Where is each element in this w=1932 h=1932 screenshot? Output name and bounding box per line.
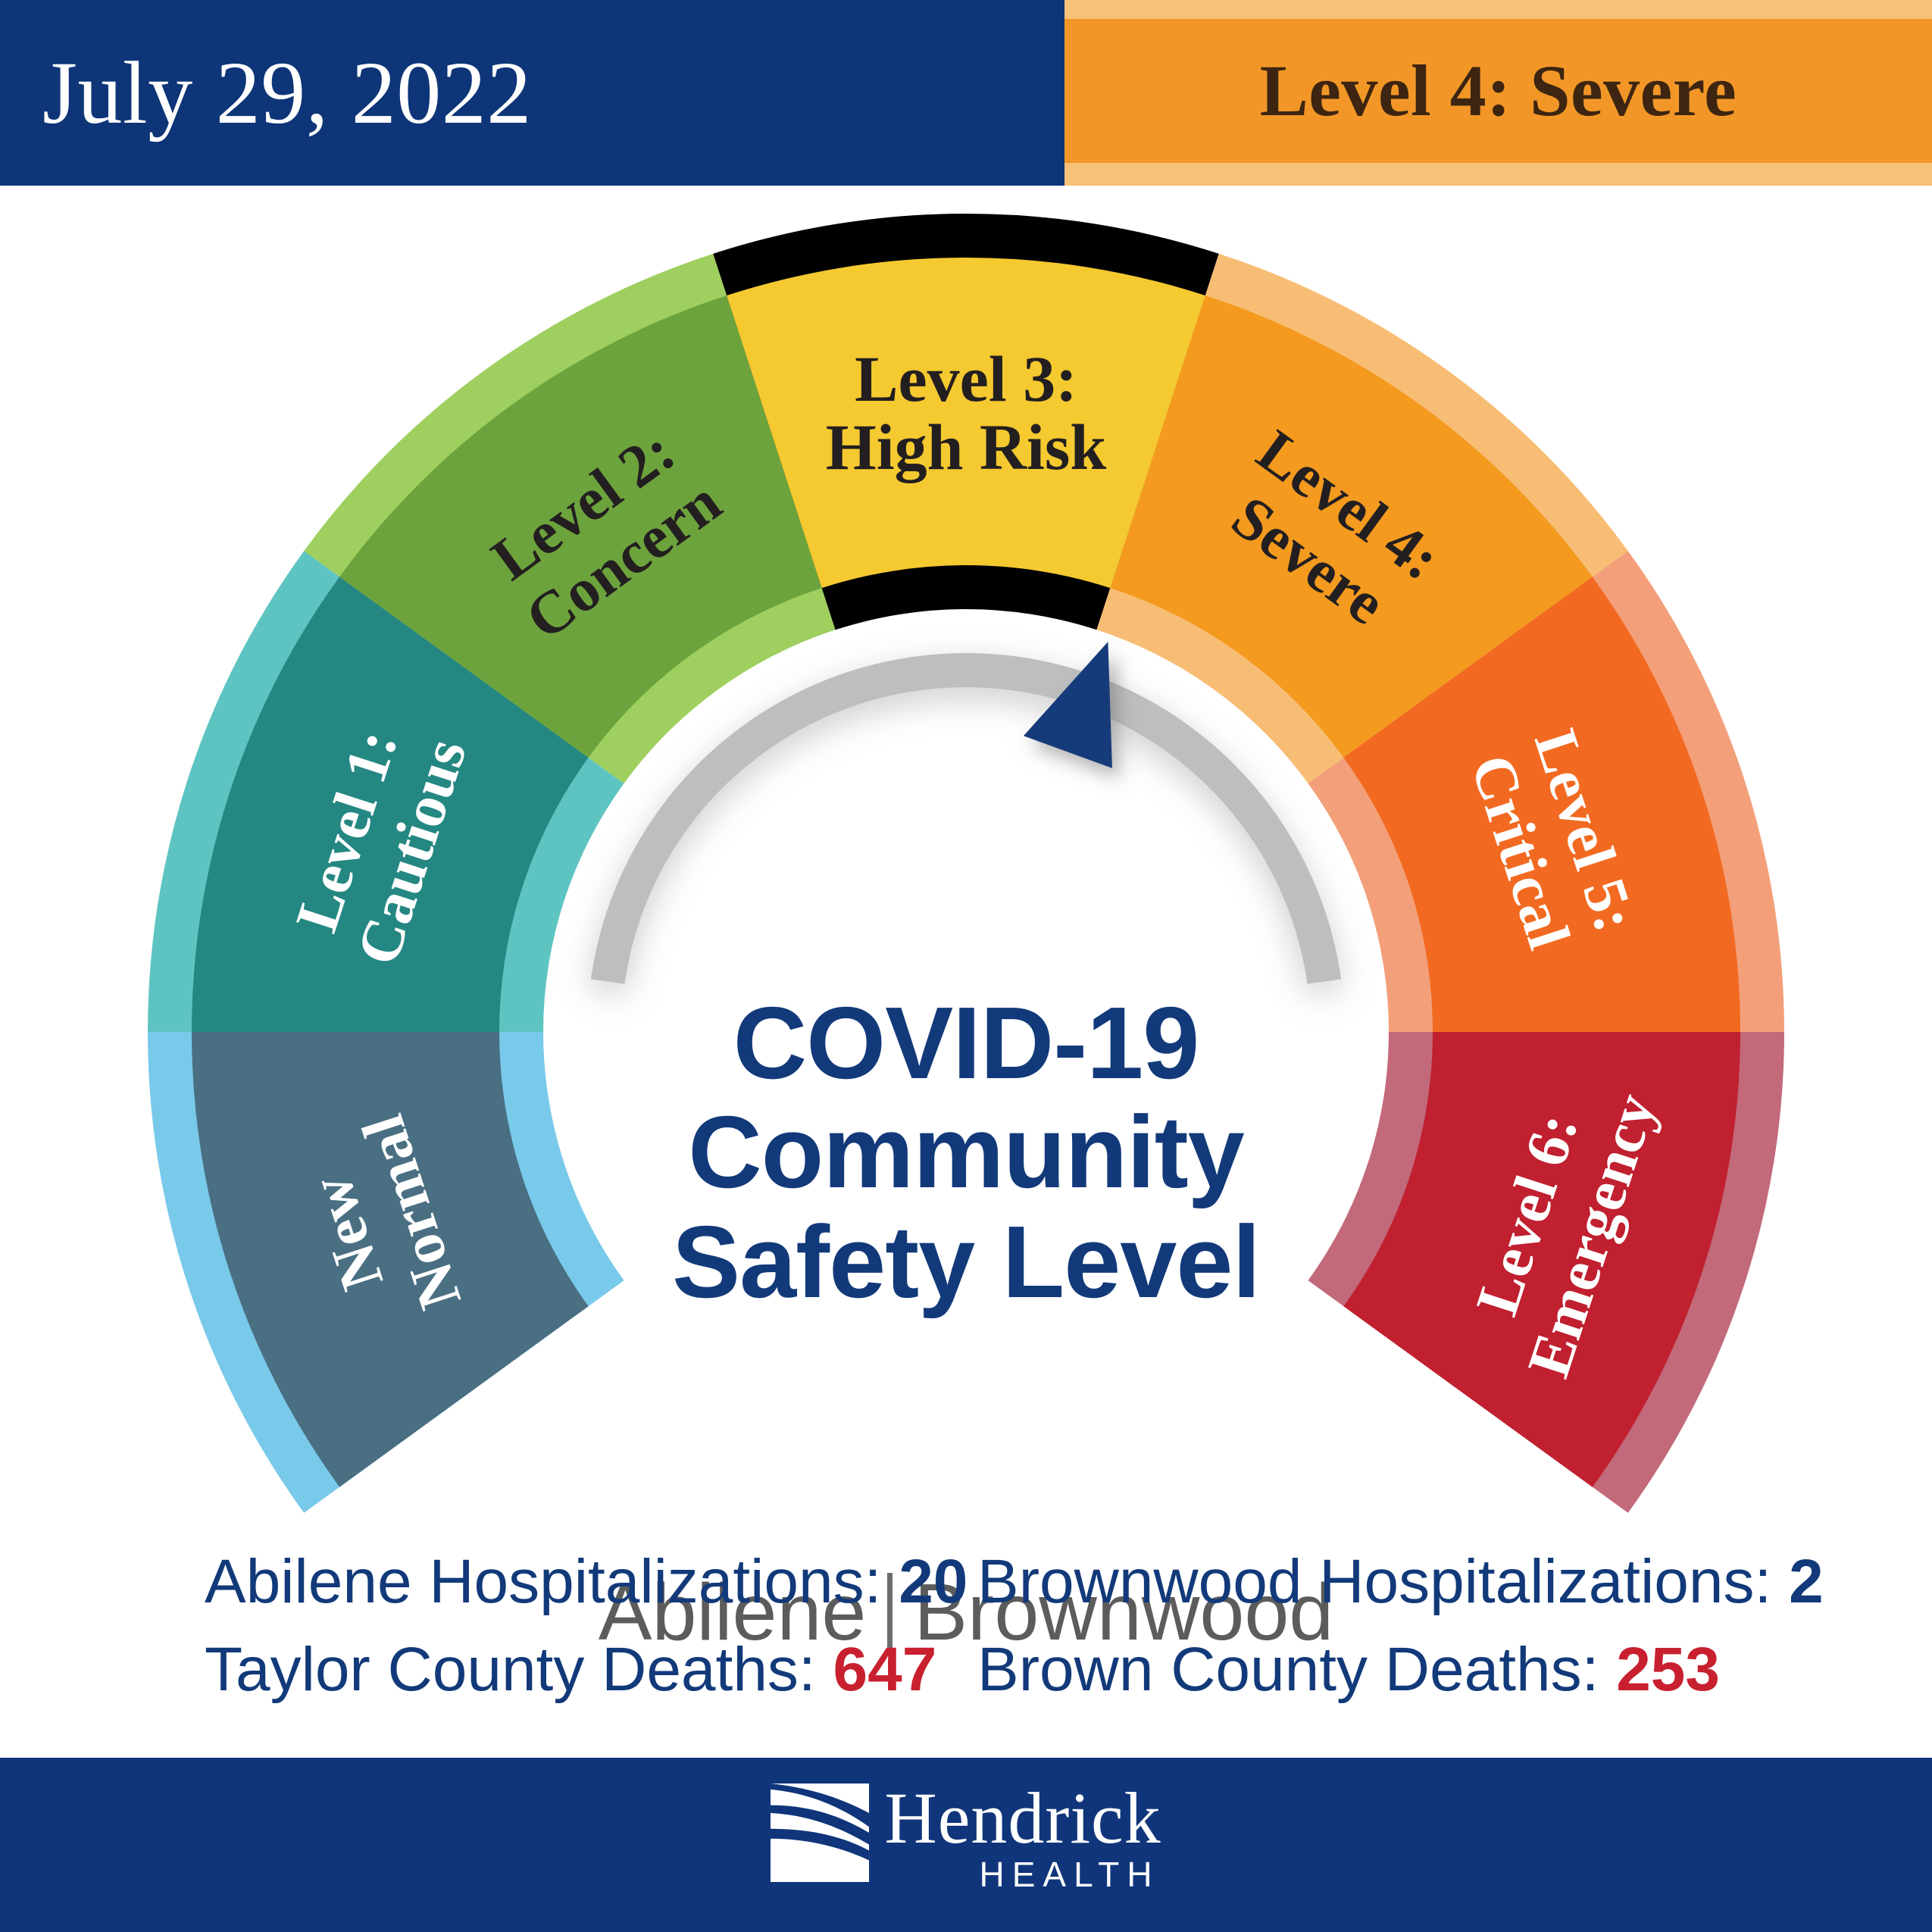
date-band: July 29, 2022 xyxy=(0,0,1064,186)
inner-ring-arc xyxy=(591,653,1341,984)
stat-label: Taylor County Deaths: xyxy=(205,1635,833,1704)
footer-bar: Hendrick HEALTH xyxy=(0,1758,1932,1932)
stat-row: Brown County Deaths: 253 xyxy=(977,1626,1824,1714)
current-level-inner: Level 4: Severe xyxy=(1064,19,1932,163)
stat-label: Brown County Deaths: xyxy=(977,1635,1616,1704)
stat-label: Brownwood Hospitalizations: xyxy=(977,1547,1789,1616)
stat-row: Abilene Hospitalizations: 20 xyxy=(205,1538,968,1626)
logo-brand: Hendrick xyxy=(884,1784,1161,1853)
logo-text: Hendrick HEALTH xyxy=(884,1784,1161,1897)
hendrick-health-logo: Hendrick HEALTH xyxy=(771,1784,1161,1897)
stat-value: 253 xyxy=(1616,1635,1720,1704)
stats-column-right: Brownwood Hospitalizations: 2 Brown Coun… xyxy=(977,1538,1824,1715)
statistics-block: Abilene Hospitalizations: 20 Taylor Coun… xyxy=(0,1538,1932,1735)
stat-value: 647 xyxy=(833,1635,937,1704)
logo-brand-sub: HEALTH xyxy=(980,1853,1161,1897)
safety-level-gauge: NewNormalLevel 1:CautiousLevel 2:Concern… xyxy=(0,186,1932,1716)
stats-column-left: Abilene Hospitalizations: 20 Taylor Coun… xyxy=(205,1538,968,1715)
stat-value: 2 xyxy=(1789,1547,1824,1616)
current-level-band: Level 4: Severe xyxy=(1064,0,1932,186)
header-bar: July 29, 2022 Level 4: Severe xyxy=(0,0,1932,186)
stat-value: 20 xyxy=(899,1547,968,1616)
gauge-area: NewNormalLevel 1:CautiousLevel 2:Concern… xyxy=(0,186,1932,1716)
report-date: July 29, 2022 xyxy=(0,48,532,138)
gauge-inner-ring xyxy=(591,653,1341,984)
gauge-segment-label: Level 3:High Risk xyxy=(826,342,1107,483)
stat-row: Brownwood Hospitalizations: 2 xyxy=(977,1538,1824,1626)
stat-row: Taylor County Deaths: 647 xyxy=(205,1626,968,1714)
gauge-segment-label-line: High Risk xyxy=(826,411,1107,483)
current-level-label: Level 4: Severe xyxy=(1260,55,1737,127)
gauge-segment-label-line: Level 3: xyxy=(855,342,1077,415)
stat-label: Abilene Hospitalizations: xyxy=(205,1547,899,1616)
hendrick-mark-icon xyxy=(771,1784,869,1882)
